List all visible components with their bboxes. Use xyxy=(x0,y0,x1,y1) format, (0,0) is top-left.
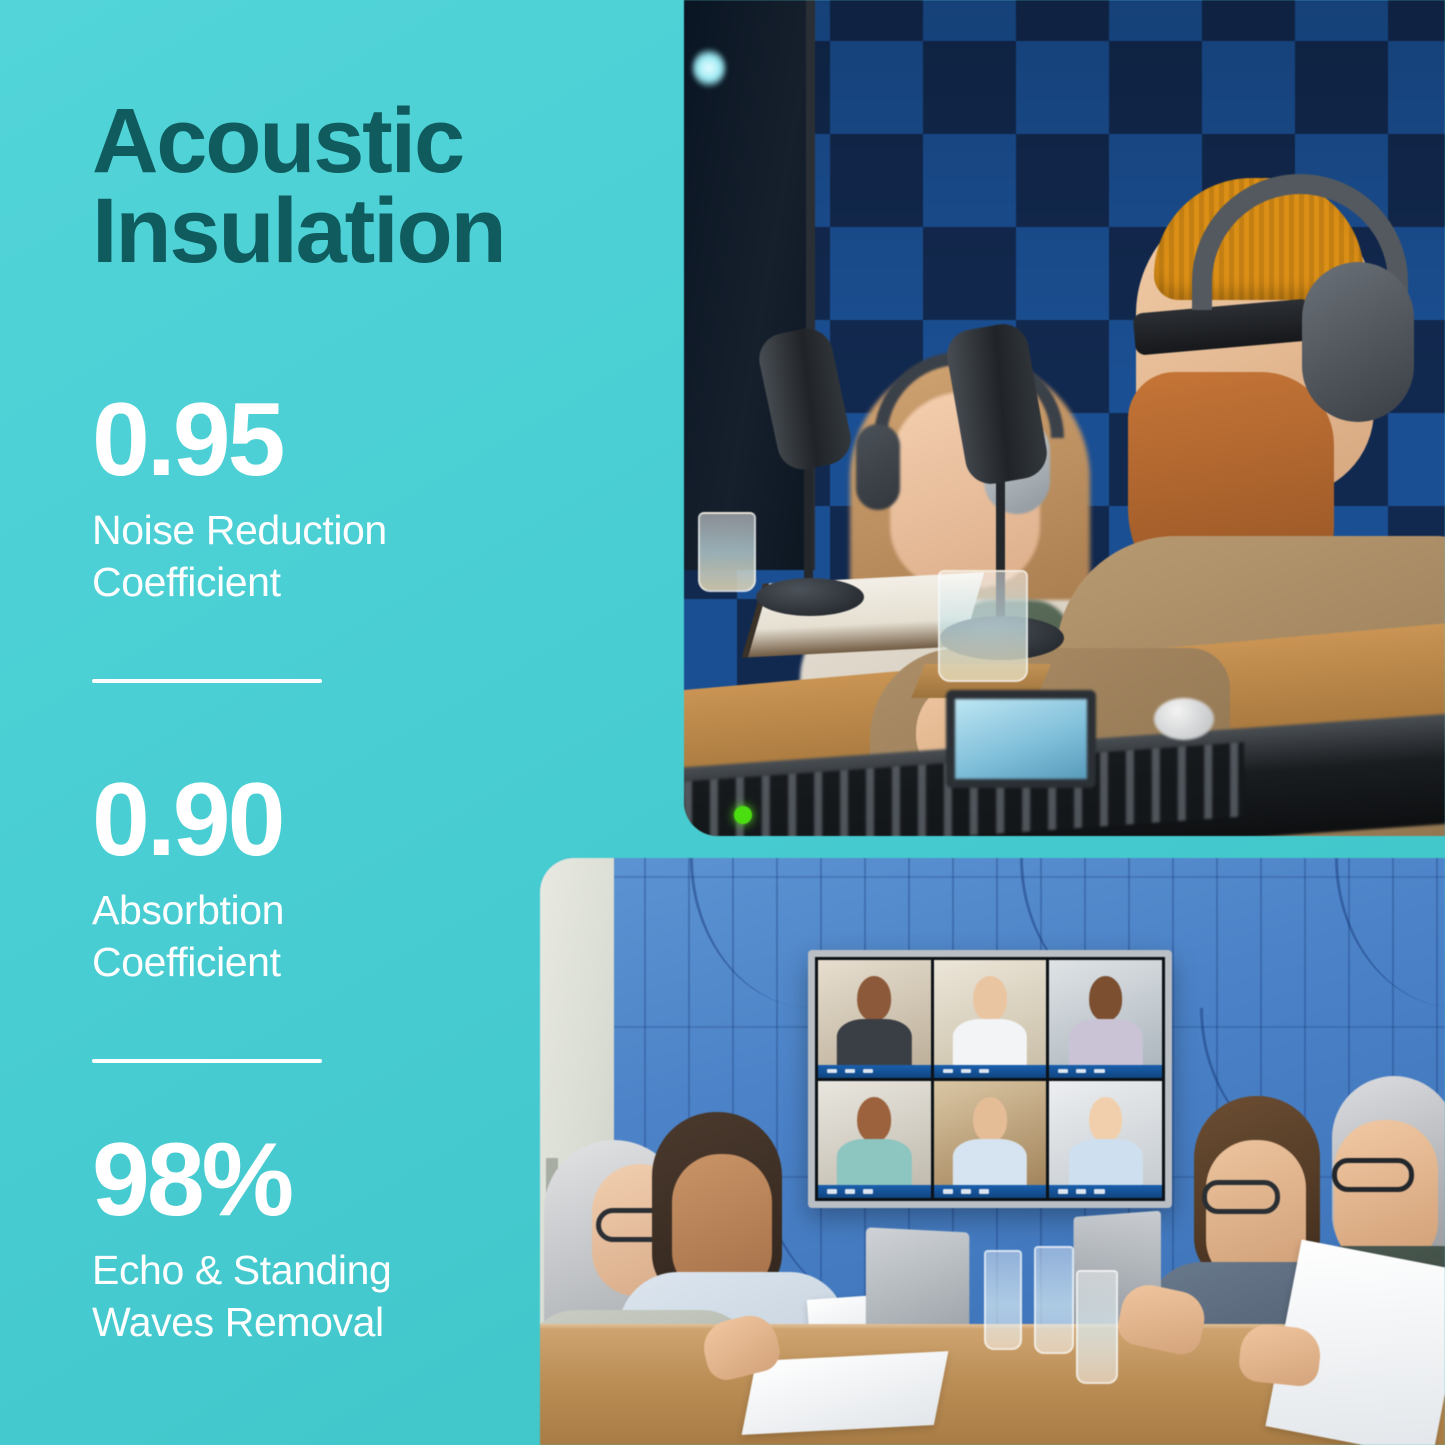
stat-divider xyxy=(92,1059,322,1063)
eyeglasses xyxy=(1202,1180,1280,1214)
stat-value: 98% xyxy=(92,1128,612,1232)
stat-block-absorption: 0.90 Absorbtion Coefficient xyxy=(92,768,612,989)
stat-label: Echo & Standing Waves Removal xyxy=(92,1244,612,1349)
video-call-tile xyxy=(934,1081,1047,1199)
mic-base xyxy=(756,578,864,616)
conference-room-photo xyxy=(540,858,1445,1445)
studio-light-icon xyxy=(692,48,726,88)
water-glass xyxy=(1034,1246,1074,1354)
stat-value: 0.90 xyxy=(92,768,612,872)
console-knob xyxy=(1154,698,1214,740)
stat-block-echo-removal: 98% Echo & Standing Waves Removal xyxy=(92,1128,612,1349)
stat-label: Noise Reduction Coefficient xyxy=(92,504,612,609)
podcast-studio-photo xyxy=(684,0,1445,836)
stat-divider xyxy=(92,679,322,683)
eyeglasses xyxy=(1332,1158,1414,1192)
video-call-tile xyxy=(1049,1081,1162,1199)
panel-curve xyxy=(1335,858,1445,1008)
headphone-earcup xyxy=(856,424,900,510)
video-call-tile xyxy=(818,1081,931,1199)
console-screen xyxy=(946,690,1096,788)
headphone-earcup xyxy=(1302,262,1414,422)
stat-value: 0.95 xyxy=(92,388,612,492)
video-conference-screen xyxy=(808,950,1172,1208)
person-face xyxy=(1334,1120,1438,1266)
stat-label: Absorbtion Coefficient xyxy=(92,884,612,989)
infographic-canvas: Acoustic Insulation 0.95 Noise Reduction… xyxy=(0,0,1445,1445)
water-glass xyxy=(938,570,1028,682)
water-glass xyxy=(698,512,756,592)
page-title: Acoustic Insulation xyxy=(92,96,652,276)
console-led-indicator xyxy=(734,806,752,824)
video-call-tile xyxy=(818,960,931,1078)
water-glass xyxy=(984,1250,1022,1350)
stat-block-noise-reduction: 0.95 Noise Reduction Coefficient xyxy=(92,388,612,609)
panel-curve xyxy=(690,858,813,1008)
water-glass xyxy=(1076,1270,1118,1384)
video-call-tile xyxy=(934,960,1047,1078)
video-call-tile xyxy=(1049,960,1162,1078)
